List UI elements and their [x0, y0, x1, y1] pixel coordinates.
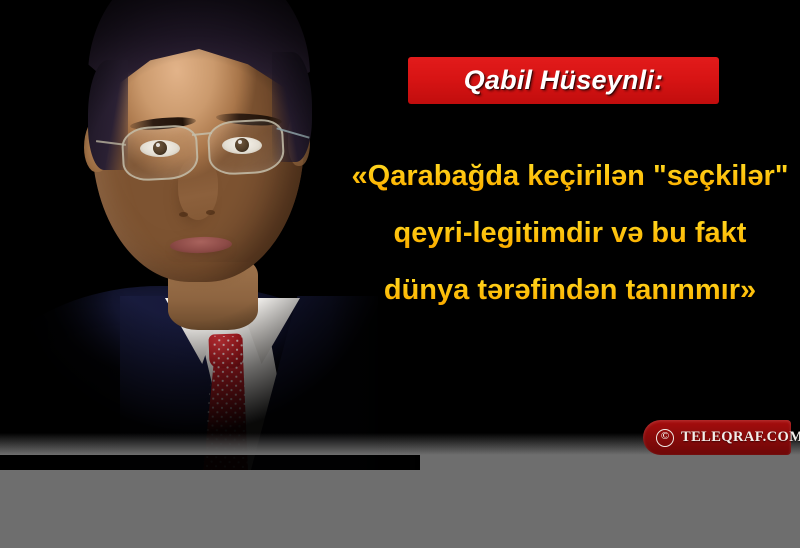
- eyeglass-lens-left: [121, 124, 200, 182]
- quote-text-block: «Qarabağda keçirilən "seçkilər" qeyri-le…: [342, 148, 798, 319]
- quote-line: «Qarabağda keçirilən "seçkilər": [342, 148, 798, 205]
- speaker-name-label: Qabil Hüseynli:: [464, 65, 664, 96]
- chin-shadow: [150, 262, 255, 292]
- nostril-left: [179, 212, 188, 217]
- news-quote-graphic: Qabil Hüseynli: «Qarabağda keçirilən "se…: [0, 0, 800, 548]
- copyright-icon: ©: [656, 429, 674, 447]
- site-name-label: TELEQRAF.COM: [681, 429, 800, 446]
- eyeglass-lens-right: [207, 118, 286, 176]
- speaker-name-banner: Qabil Hüseynli:: [408, 57, 719, 104]
- site-watermark: © TELEQRAF.COM: [643, 420, 791, 455]
- quote-line: dünya tərəfindən tanınmır»: [342, 262, 798, 319]
- nostril-right: [206, 210, 215, 215]
- quote-line: qeyri-legitimdir və bu fakt: [342, 205, 798, 262]
